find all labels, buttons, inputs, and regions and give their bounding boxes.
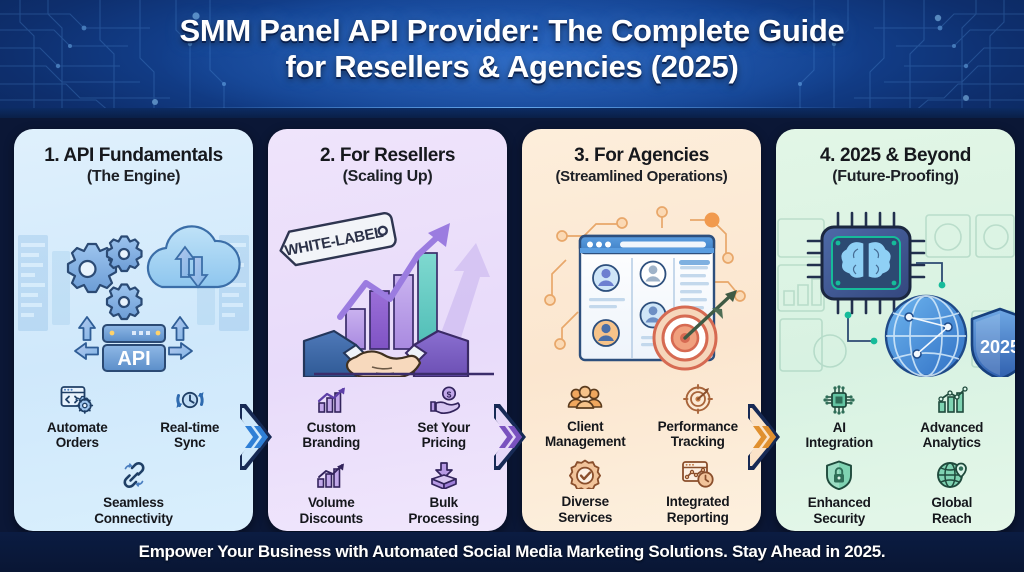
feature-label: AI Integration (784, 420, 895, 451)
feature-set-your-pricing[interactable]: $ Set Your Pricing (389, 381, 500, 453)
feature-label: Advanced Analytics (897, 420, 1008, 451)
panel-3-subtitle: (Streamlined Operations) (530, 168, 753, 185)
page-title: SMM Panel API Provider: The Complete Gui… (0, 0, 1024, 85)
shield-2025-icon: 2025 (972, 309, 1015, 377)
api-hero-label: API (117, 348, 150, 370)
double-chevron-right-icon (494, 404, 528, 470)
panel-2-hero-art: WHITE-LABEL (268, 191, 507, 377)
feature-automate-orders[interactable]: Automate Orders (22, 381, 133, 453)
svg-text:$: $ (446, 389, 451, 399)
header-base-bar (0, 108, 1024, 118)
panel-3-header: 3. For Agencies (Streamlined Operations) (522, 129, 761, 186)
connector-1-2 (240, 404, 274, 470)
feature-custom-branding[interactable]: Custom Branding (276, 381, 387, 453)
feature-global-reach[interactable]: Global Reach (897, 456, 1008, 528)
feature-integrated-reporting[interactable]: Integrated Reporting (643, 455, 754, 527)
globe-pin-icon (897, 458, 1008, 492)
feature-advanced-analytics[interactable]: Advanced Analytics (897, 381, 1008, 453)
header-banner: SMM Panel API Provider: The Complete Gui… (0, 0, 1024, 118)
feature-label: Automate Orders (22, 420, 133, 451)
feature-label: Diverse Services (530, 494, 641, 525)
ai-brain-chip-icon (808, 213, 924, 313)
footer-text: Empower Your Business with Automated Soc… (139, 542, 886, 562)
panel-api-fundamentals[interactable]: 1. API Fundamentals (The Engine) (14, 129, 253, 531)
feature-label: Enhanced Security (784, 495, 895, 526)
analytics-chart-icon (897, 383, 1008, 417)
footer-banner: Empower Your Business with Automated Soc… (0, 532, 1024, 572)
panel-1-features: Automate Orders (14, 377, 253, 529)
feature-client-management[interactable]: Client Management (530, 380, 641, 452)
panel-4-features: AI Integration (776, 377, 1015, 529)
panel-row: 1. API Fundamentals (The Engine) (0, 118, 1024, 538)
panel-3-features: Client Management (522, 376, 761, 528)
feature-seamless-connectivity[interactable]: Seamless Connectivity (22, 456, 245, 528)
gears-icon (68, 236, 142, 319)
panel-3-hero-art (522, 190, 761, 376)
feature-enhanced-security[interactable]: Enhanced Security (784, 456, 895, 528)
panel-for-resellers[interactable]: 2. For Resellers (Scaling Up) (268, 129, 507, 531)
panel-4-title: 4. 2025 & Beyond (784, 145, 1007, 166)
chip-nodes-icon (784, 383, 895, 417)
panel-4-hero-art: 2025 (776, 191, 1015, 377)
feature-label: Integrated Reporting (643, 494, 754, 525)
feature-label: Performance Tracking (643, 419, 754, 450)
api-server-icon: API (103, 325, 165, 371)
panel-2-subtitle: (Scaling Up) (276, 168, 499, 186)
white-label-tag-icon: WHITE-LABEL (277, 212, 396, 267)
panel-2-header: 2. For Resellers (Scaling Up) (268, 129, 507, 187)
feature-label: Custom Branding (276, 420, 387, 451)
network-dot-accent (705, 212, 720, 227)
panel-3-title: 3. For Agencies (530, 145, 753, 166)
clock-sync-icon (135, 383, 246, 417)
panel-4-header: 4. 2025 & Beyond (Future-Proofing) (776, 129, 1015, 187)
feature-label: Bulk Processing (389, 495, 500, 526)
users-group-icon (530, 382, 641, 416)
panel-1-header: 1. API Fundamentals (The Engine) (14, 129, 253, 187)
panel-future-proofing[interactable]: 4. 2025 & Beyond (Future-Proofing) (776, 129, 1015, 531)
double-chevron-right-icon (748, 404, 782, 470)
feature-diverse-services[interactable]: Diverse Services (530, 455, 641, 527)
connector-2-3 (494, 404, 528, 470)
title-line-2: for Resellers & Agencies (2025) (0, 49, 1024, 85)
feature-label: Client Management (530, 419, 641, 450)
feature-bulk-processing[interactable]: Bulk Processing (389, 456, 500, 528)
globe-network-icon (886, 296, 966, 376)
feature-real-time-sync[interactable]: Real-time Sync (135, 381, 246, 453)
infographic-root: SMM Panel API Provider: The Complete Gui… (0, 0, 1024, 572)
feature-performance-tracking[interactable]: Performance Tracking (643, 380, 754, 452)
hand-coin-icon: $ (389, 383, 500, 417)
code-window-gear-icon (22, 383, 133, 417)
panel-1-title: 1. API Fundamentals (22, 145, 245, 166)
panel-for-agencies[interactable]: 3. For Agencies (Streamlined Operations) (522, 129, 761, 531)
panel-2-title: 2. For Resellers (276, 145, 499, 166)
target-icon (643, 382, 754, 416)
box-download-icon (389, 458, 500, 492)
panel-2-features: Custom Branding $ Set Your (268, 377, 507, 529)
panel-1-subtitle: (The Engine) (22, 168, 245, 186)
connector-3-4 (748, 404, 782, 470)
shield-year-label: 2025 (980, 337, 1015, 357)
feature-label: Global Reach (897, 495, 1008, 526)
feature-label: Seamless Connectivity (22, 495, 245, 526)
feature-ai-integration[interactable]: AI Integration (784, 381, 895, 453)
report-chart-icon (643, 457, 754, 491)
bar-chart-arrow-icon (276, 383, 387, 417)
gear-check-icon (530, 457, 641, 491)
chain-link-icon (22, 458, 245, 492)
feature-label: Set Your Pricing (389, 420, 500, 451)
feature-label: Volume Discounts (276, 495, 387, 526)
double-chevron-right-icon (240, 404, 274, 470)
bar-chart-trend-icon (276, 458, 387, 492)
panel-1-hero-art: API (14, 191, 253, 377)
panel-4-subtitle: (Future-Proofing) (784, 168, 1007, 186)
background-arrow-icon (438, 243, 490, 341)
feature-volume-discounts[interactable]: Volume Discounts (276, 456, 387, 528)
feature-label: Real-time Sync (135, 420, 246, 451)
shield-lock-icon (784, 458, 895, 492)
title-line-1: SMM Panel API Provider: The Complete Gui… (180, 13, 845, 48)
